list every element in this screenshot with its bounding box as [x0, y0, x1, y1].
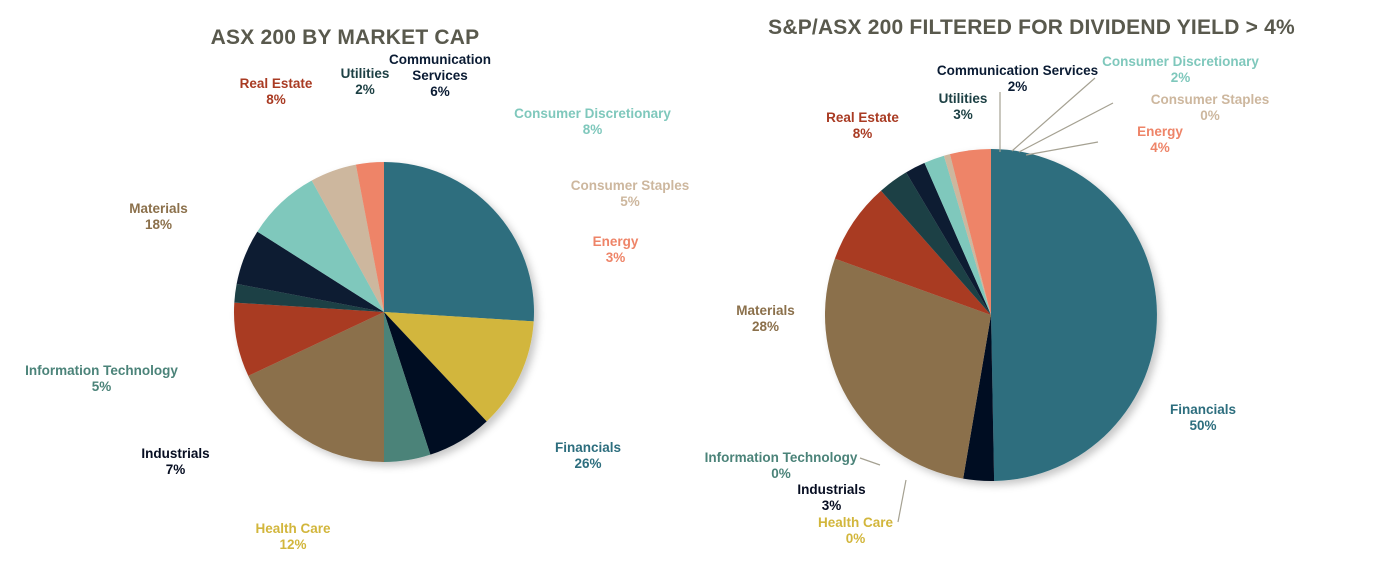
pie-label-name: Real Estate: [815, 110, 910, 126]
pie-label-name: Communication Services: [935, 63, 1100, 79]
pie-label-percent: 0%: [1140, 108, 1280, 124]
pie-label-real-estate: Real Estate8%: [815, 110, 910, 142]
pie-label-percent: 3%: [923, 107, 1003, 123]
pie-label-financials: Financials50%: [1158, 402, 1248, 434]
pie-label-industrials: Industrials3%: [779, 482, 884, 514]
chart-panel-dividend-yield: S&P/ASX 200 FILTERED FOR DIVIDEND YIELD …: [690, 0, 1373, 573]
pie-label-name: Utilities: [923, 91, 1003, 107]
pie-label-name: Energy: [1120, 124, 1200, 140]
pie-chart-dividend-yield: [0, 0, 1373, 573]
pie-label-percent: 4%: [1120, 140, 1200, 156]
pie-label-information-technology: Information Technology0%: [696, 450, 866, 482]
pie-label-percent: 0%: [808, 531, 903, 547]
pie-label-materials: Materials28%: [723, 303, 808, 335]
pie-label-name: Materials: [723, 303, 808, 319]
pie-label-name: Consumer Staples: [1140, 92, 1280, 108]
pie-label-percent: 50%: [1158, 418, 1248, 434]
pie-label-energy: Energy4%: [1120, 124, 1200, 156]
pie-label-percent: 8%: [815, 126, 910, 142]
pie-label-name: Consumer Discretionary: [1098, 54, 1263, 70]
pie-label-percent: 0%: [696, 466, 866, 482]
pie-label-percent: 3%: [779, 498, 884, 514]
pie-label-health-care: Health Care0%: [808, 515, 903, 547]
pie-slice-financials[interactable]: [991, 149, 1157, 481]
pie-label-name: Financials: [1158, 402, 1248, 418]
pie-label-name: Health Care: [808, 515, 903, 531]
charts-row: ASX 200 BY MARKET CAP Communication Serv…: [0, 0, 1373, 573]
pie-label-name: Industrials: [779, 482, 884, 498]
leader-consumer-staples: [1019, 103, 1113, 152]
pie-label-utilities: Utilities3%: [923, 91, 1003, 123]
pie-label-consumer-staples: Consumer Staples0%: [1140, 92, 1280, 124]
pie-label-percent: 28%: [723, 319, 808, 335]
pie-label-consumer-discretionary: Consumer Discretionary2%: [1098, 54, 1263, 86]
leader-energy: [1026, 142, 1098, 155]
pie-label-name: Information Technology: [696, 450, 866, 466]
pie-label-percent: 2%: [1098, 70, 1263, 86]
